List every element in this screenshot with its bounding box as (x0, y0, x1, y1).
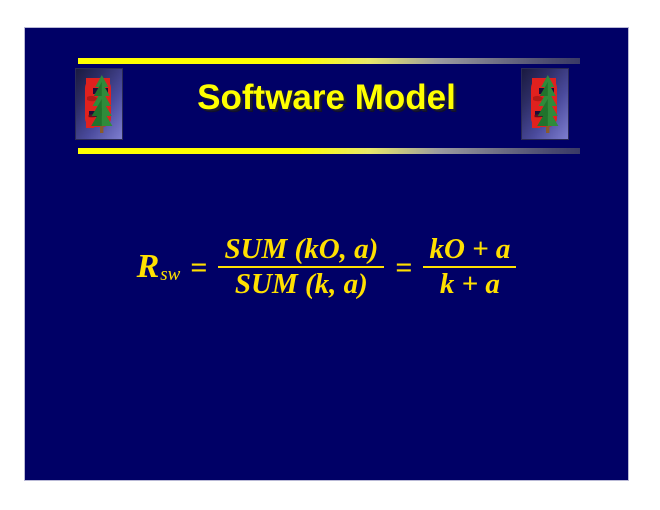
equation-relation-1: = (179, 251, 218, 285)
equation-lhs-subscript: sw (160, 264, 180, 286)
title-banner: Software Model (25, 28, 628, 163)
equation-fraction-2: kO + a k + a (423, 233, 516, 302)
title-rule-bottom (78, 148, 580, 154)
equation-lhs-variable: R (137, 250, 160, 284)
equation-fraction-2-denominator: k + a (434, 268, 506, 301)
equation-fraction-1-denominator: SUM (k, a) (229, 268, 374, 301)
equation-relation-2: = (384, 251, 423, 285)
title-rule-top (78, 58, 580, 64)
equation-fraction-1-numerator: SUM (kO, a) (218, 233, 384, 266)
page-title: Software Model (25, 78, 628, 118)
equation-lhs: Rsw (137, 250, 180, 284)
equation-fraction-1: SUM (kO, a) SUM (k, a) (218, 233, 384, 302)
software-model-equation: Rsw = SUM (kO, a) SUM (k, a) = kO + a k … (25, 233, 628, 302)
equation-fraction-2-numerator: kO + a (423, 233, 516, 266)
slide-canvas: Software Model Rsw = SUM (kO, a) SUM (k,… (25, 28, 628, 480)
